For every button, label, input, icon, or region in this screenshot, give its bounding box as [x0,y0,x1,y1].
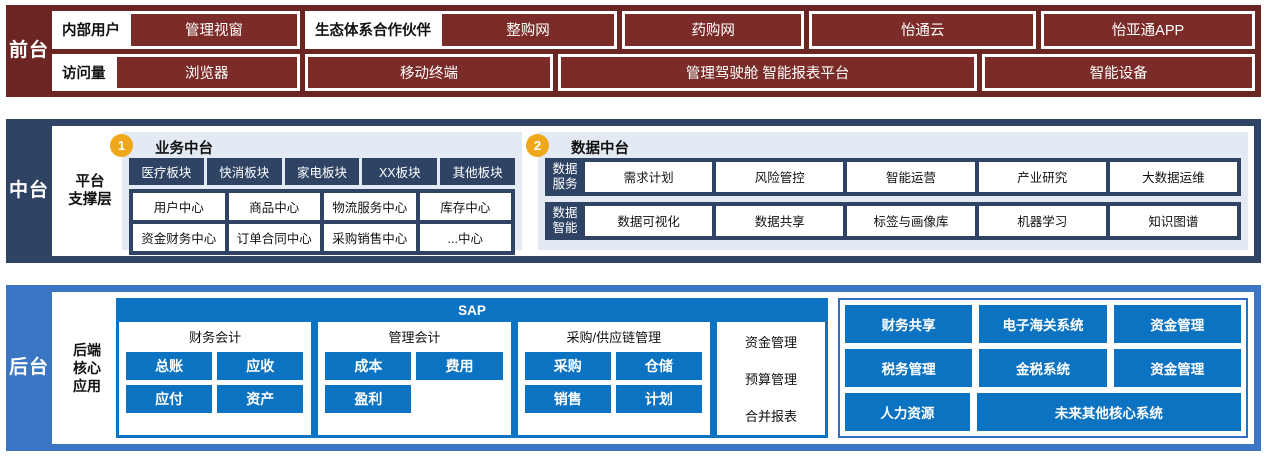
backend-core-app-label: 后端 核心 应用 [58,298,116,438]
other-systems-row-1: 财务共享 电子海关系统 资金管理 [845,305,1241,343]
front-tile-zhenggouwang[interactable]: 整购网 [442,14,614,46]
front-tile-yitongyun[interactable]: 怡通云 [812,14,1032,46]
backend-core-line-3: 应用 [73,377,101,395]
sap-stack-budget-management[interactable]: 预算管理 [720,362,822,394]
other-chip-fund-management-2[interactable]: 资金管理 [1114,349,1241,387]
middle-stage-label-text: 中台 [9,181,49,201]
front-tile-admin-window[interactable]: 管理视窗 [131,14,297,46]
backend-core-line-2: 核心 [73,359,101,377]
sap-panel: SAP 财务会计 总账 应收 应付 资产 管理会计 [116,298,828,438]
front-solo-mobile[interactable]: 移动终端 [305,54,553,92]
business-center-grid: 用户中心 商品中心 物流服务中心 库存中心 资金财务中心 订单合同中心 采购销售… [129,189,515,255]
front-stage-row-1: 内部用户 管理视窗 生态体系合作伙伴 整购网 药购网 怡通云 怡亚通APP [52,11,1255,49]
front-tile-mobile-terminal[interactable]: 移动终端 [308,57,550,89]
business-center-row-2: 资金财务中心 订单合同中心 采购销售中心 ...中心 [133,224,511,251]
data-cell-bigdata-ops[interactable]: 大数据运维 [1110,162,1237,192]
back-stage-body: 后端 核心 应用 SAP 财务会计 总账 应收 应 [52,292,1254,444]
center-order-contract[interactable]: 订单合同中心 [229,224,321,251]
business-center-row-1: 用户中心 商品中心 物流服务中心 库存中心 [133,193,511,220]
badge-1: 1 [110,134,133,157]
other-chip-hr[interactable]: 人力资源 [845,393,970,431]
front-tile-yiyatong-app[interactable]: 怡亚通APP [1044,14,1252,46]
other-chip-future-core-systems[interactable]: 未来其他核心系统 [977,393,1241,431]
front-solo-smart-device[interactable]: 智能设备 [982,54,1255,92]
front-solo-yitongyun[interactable]: 怡通云 [809,11,1035,49]
data-intelligence-line-1: 数据 [552,206,577,221]
data-platform-title: 数据中台 [571,137,629,158]
data-service-label: 数据 服务 [549,162,581,192]
sector-other[interactable]: 其他板块 [440,158,515,185]
data-cell-data-sharing[interactable]: 数据共享 [716,206,843,236]
sap-chip-warehouse[interactable]: 仓储 [616,352,702,380]
data-cell-tag-image-library[interactable]: 标签与画像库 [847,206,974,236]
front-stage-band: 前台 内部用户 管理视窗 生态体系合作伙伴 整购网 药购网 怡通云 [6,5,1261,97]
center-user[interactable]: 用户中心 [133,193,225,220]
sap-title: SAP [119,301,825,322]
sap-chip-group: 采购 仓储 销售 计划 [525,352,703,413]
center-finance[interactable]: 资金财务中心 [133,224,225,251]
sector-fmcg[interactable]: 快消板块 [207,158,282,185]
data-cell-machine-learning[interactable]: 机器学习 [979,206,1106,236]
sector-appliance[interactable]: 家电板块 [285,158,360,185]
sap-chip-sales[interactable]: 销售 [525,385,611,413]
data-cell-knowledge-graph[interactable]: 知识图谱 [1110,206,1237,236]
sap-column-procurement-supply-chain: 采购/供应链管理 采购 仓储 销售 计划 [518,322,710,435]
front-group-key: 内部用户 [55,19,127,40]
sector-medical[interactable]: 医疗板块 [129,158,204,185]
other-systems-row-2: 税务管理 金税系统 资金管理 [845,349,1241,387]
front-group-visits[interactable]: 访问量 浏览器 [52,54,300,92]
center-logistics[interactable]: 物流服务中心 [324,193,416,220]
back-stage-band: 后台 后端 核心 应用 SAP 财务会计 [6,285,1261,451]
other-chip-tax-management[interactable]: 税务管理 [845,349,972,387]
middle-stage-label: 中台 [6,126,52,256]
sector-xx[interactable]: XX板块 [362,158,437,185]
sap-columns: 财务会计 总账 应收 应付 资产 管理会计 成本 [119,322,825,435]
front-stage-row-2: 访问量 浏览器 移动终端 管理驾驶舱 智能报表平台 智能设备 [52,54,1255,92]
sap-chip-planning[interactable]: 计划 [616,385,702,413]
data-platform-header: 数据中台 [571,136,1241,158]
sap-chip-general-ledger[interactable]: 总账 [126,352,212,380]
other-systems-panel: 财务共享 电子海关系统 资金管理 税务管理 金税系统 资金管理 人力资源 未来其… [838,298,1248,438]
center-inventory[interactable]: 库存中心 [420,193,512,220]
back-stage-panels: SAP 财务会计 总账 应收 应付 资产 管理会计 [116,298,1248,438]
middle-stage-panels: 1 业务中台 医疗板块 快消板块 家电板块 XX板块 其他板块 用户中心 [122,132,1248,250]
sap-side-stack: 资金管理 预算管理 合并报表 [717,322,825,435]
front-stage-label-text: 前台 [9,41,49,61]
sap-side-stack-items: 资金管理 预算管理 合并报表 [720,325,822,432]
back-stage-label-text: 后台 [9,358,49,378]
front-group-internal-user[interactable]: 内部用户 管理视窗 [52,11,300,49]
data-intelligence-label: 数据 智能 [549,206,581,236]
data-middle-platform-panel: 2 数据中台 数据 服务 需求计划 [538,132,1248,250]
other-chip-e-customs[interactable]: 电子海关系统 [979,305,1106,343]
business-platform-header: 业务中台 [155,136,515,158]
data-intelligence-line-2: 智能 [552,221,577,236]
backend-core-line-1: 后端 [73,341,101,359]
front-tile-smart-device[interactable]: 智能设备 [985,57,1252,89]
other-systems-row-3: 人力资源 未来其他核心系统 [845,393,1241,431]
front-solo-yiyatong-app[interactable]: 怡亚通APP [1041,11,1255,49]
business-platform-title: 业务中台 [155,137,213,158]
data-service-line-1: 数据 [552,162,577,177]
other-chip-finance-shared[interactable]: 财务共享 [845,305,972,343]
data-cell-visualization[interactable]: 数据可视化 [585,206,712,236]
data-cell-smart-operation[interactable]: 智能运营 [847,162,974,192]
business-middle-platform-panel: 1 业务中台 医疗板块 快消板块 家电板块 XX板块 其他板块 用户中心 [122,132,522,250]
front-group-eco-partner[interactable]: 生态体系合作伙伴 整购网 [305,11,617,49]
sap-column-title: 采购/供应链管理 [525,327,703,346]
badge-2: 2 [526,134,549,157]
sap-chip-payable[interactable]: 应付 [126,385,212,413]
front-group-key: 生态体系合作伙伴 [308,19,438,40]
center-purchase-sales[interactable]: 采购销售中心 [324,224,416,251]
data-cell-demand-plan[interactable]: 需求计划 [585,162,712,192]
platform-support-line-2: 支撑层 [68,191,112,209]
data-service-line-2: 服务 [552,177,577,192]
front-stage-label: 前台 [6,11,52,91]
sap-chip-cost[interactable]: 成本 [325,352,411,380]
middle-stage-body: 平台 支撑层 1 业务中台 医疗板块 快消板块 家电板块 XX板块 [52,126,1254,256]
front-tile-management-cockpit[interactable]: 管理驾驶舱 智能报表平台 [561,57,974,89]
business-sector-row: 医疗板块 快消板块 家电板块 XX板块 其他板块 [129,158,515,185]
sap-column-financial-accounting: 财务会计 总账 应收 应付 资产 [119,322,311,435]
sap-chip-profit[interactable]: 盈利 [325,385,411,413]
other-chip-golden-tax[interactable]: 金税系统 [979,349,1106,387]
sap-chip-group: 成本 费用 盈利 [325,352,503,413]
data-cell-industry-research[interactable]: 产业研究 [979,162,1106,192]
sap-chip-expense[interactable]: 费用 [416,352,502,380]
front-tile-browser[interactable]: 浏览器 [117,57,298,89]
sap-column-management-accounting: 管理会计 成本 费用 盈利 [318,322,510,435]
sap-chip-receivable[interactable]: 应收 [217,352,303,380]
front-group-key: 访问量 [55,62,113,83]
center-more[interactable]: ...中心 [420,224,512,251]
back-stage-label: 后台 [6,292,52,444]
front-solo-cockpit[interactable]: 管理驾驶舱 智能报表平台 [558,54,977,92]
architecture-diagram: 前台 内部用户 管理视窗 生态体系合作伙伴 整购网 药购网 怡通云 [0,0,1267,457]
front-stage-body: 内部用户 管理视窗 生态体系合作伙伴 整购网 药购网 怡通云 怡亚通APP [52,11,1255,91]
sap-column-title: 财务会计 [126,327,304,346]
sap-stack-consolidated-report[interactable]: 合并报表 [720,400,822,432]
data-service-row: 数据 服务 需求计划 风险管控 智能运营 产业研究 大数据运维 [545,158,1241,196]
sap-chip-procurement[interactable]: 采购 [525,352,611,380]
platform-support-line-1: 平台 [68,173,112,191]
middle-stage-band: 中台 平台 支撑层 1 业务中台 医疗板块 快消板块 [6,119,1261,263]
data-intelligence-row: 数据 智能 数据可视化 数据共享 标签与画像库 机器学习 知识图谱 [545,202,1241,240]
other-chip-fund-management-1[interactable]: 资金管理 [1114,305,1241,343]
sap-column-title: 管理会计 [325,327,503,346]
center-product[interactable]: 商品中心 [229,193,321,220]
sap-chip-group: 总账 应收 应付 资产 [126,352,304,413]
sap-chip-assets[interactable]: 资产 [217,385,303,413]
data-platform-rows: 数据 服务 需求计划 风险管控 智能运营 产业研究 大数据运维 [545,158,1241,240]
data-cell-risk-control[interactable]: 风险管控 [716,162,843,192]
sap-stack-fund-management[interactable]: 资金管理 [720,325,822,357]
front-solo-yaogouwang[interactable]: 药购网 [622,11,804,49]
front-tile-yaogouwang[interactable]: 药购网 [625,14,801,46]
